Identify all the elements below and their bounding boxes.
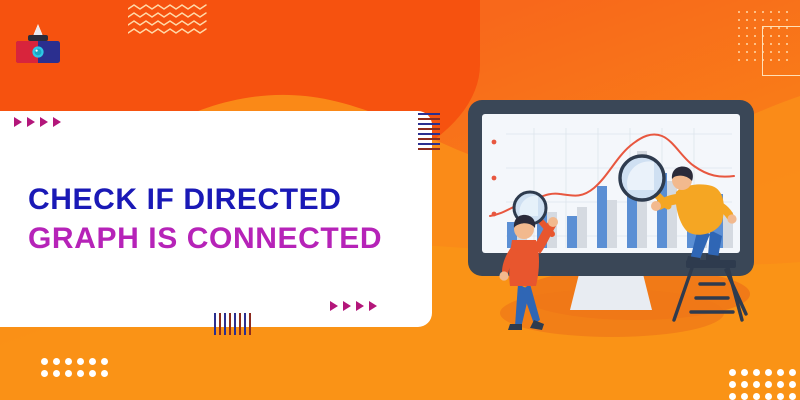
horizontal-stripe-decor xyxy=(418,113,440,153)
hand-right-person xyxy=(651,201,661,211)
chevron-icon xyxy=(356,301,364,311)
dot-grid-bottom-left xyxy=(38,355,110,379)
chevron-icon xyxy=(40,117,48,127)
favtutor-logo[interactable] xyxy=(12,22,64,64)
chevron-row-bottom xyxy=(330,301,377,311)
chevron-icon xyxy=(14,117,22,127)
vertical-stripe-decor xyxy=(214,313,251,335)
banner: CHECK IF DIRECTED GRAPH IS CONNECTED xyxy=(0,0,800,400)
headline-line-1: CHECK IF DIRECTED xyxy=(28,180,418,219)
headline-line-2: GRAPH IS CONNECTED xyxy=(28,219,418,258)
page-title: CHECK IF DIRECTED GRAPH IS CONNECTED xyxy=(28,180,418,258)
data-analysis-illustration xyxy=(460,88,760,356)
hand-left-person xyxy=(548,217,558,227)
chevron-icon xyxy=(343,301,351,311)
outline-square xyxy=(762,26,800,76)
chevron-icon xyxy=(369,301,377,311)
chevron-icon xyxy=(330,301,338,311)
dot-grid-bottom-right xyxy=(726,366,798,400)
zigzag-pattern xyxy=(128,4,210,38)
chevron-icon xyxy=(53,117,61,127)
chevron-row-top xyxy=(14,117,61,127)
chevron-icon xyxy=(27,117,35,127)
